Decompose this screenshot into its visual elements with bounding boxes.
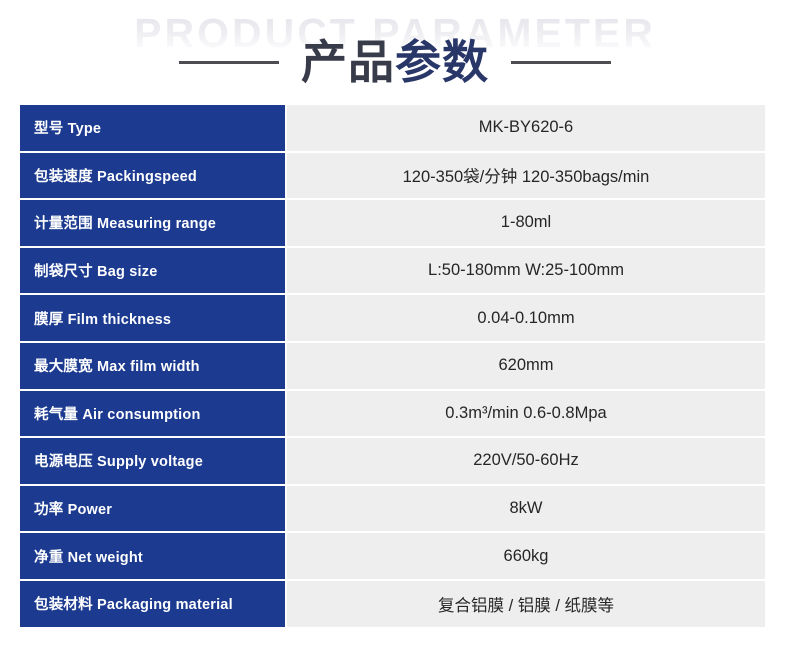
spec-value: 620mm [287, 343, 765, 389]
title-text: 产品参数 [301, 34, 489, 90]
spec-value: 复合铝膜 / 铝膜 / 纸膜等 [287, 581, 765, 627]
spec-value: 8kW [287, 486, 765, 532]
spec-table: 型号 TypeMK-BY620-6包装速度 Packingspeed120-35… [20, 105, 765, 627]
table-row: 包装材料 Packaging material复合铝膜 / 铝膜 / 纸膜等 [20, 581, 765, 627]
title-rule-right [511, 61, 611, 64]
spec-label: 计量范围 Measuring range [20, 200, 285, 246]
spec-value: MK-BY620-6 [287, 105, 765, 151]
spec-label: 制袋尺寸 Bag size [20, 248, 285, 294]
table-row: 净重 Net weight660kg [20, 533, 765, 579]
table-row: 包装速度 Packingspeed120-350袋/分钟 120-350bags… [20, 153, 765, 199]
spec-value: 1-80ml [287, 200, 765, 246]
title-segment-parameter: 参数 [395, 36, 489, 88]
spec-label: 电源电压 Supply voltage [20, 438, 285, 484]
table-row: 电源电压 Supply voltage220V/50-60Hz [20, 438, 765, 484]
spec-label: 型号 Type [20, 105, 285, 151]
table-row: 耗气量 Air consumption0.3m³/min 0.6-0.8Mpa [20, 391, 765, 437]
spec-value: L:50-180mm W:25-100mm [287, 248, 765, 294]
spec-label: 包装速度 Packingspeed [20, 153, 285, 199]
table-row: 膜厚 Film thickness0.04-0.10mm [20, 295, 765, 341]
spec-label: 耗气量 Air consumption [20, 391, 285, 437]
table-row: 制袋尺寸 Bag sizeL:50-180mm W:25-100mm [20, 248, 765, 294]
spec-label: 净重 Net weight [20, 533, 285, 579]
table-row: 型号 TypeMK-BY620-6 [20, 105, 765, 151]
table-row: 计量范围 Measuring range1-80ml [20, 200, 765, 246]
page-title: 产品参数 [0, 30, 790, 94]
spec-value: 660kg [287, 533, 765, 579]
spec-label: 包装材料 Packaging material [20, 581, 285, 627]
spec-value: 220V/50-60Hz [287, 438, 765, 484]
title-rule-left [179, 61, 279, 64]
spec-value: 120-350袋/分钟 120-350bags/min [287, 153, 765, 199]
spec-label: 功率 Power [20, 486, 285, 532]
spec-label: 最大膜宽 Max film width [20, 343, 285, 389]
spec-value: 0.3m³/min 0.6-0.8Mpa [287, 391, 765, 437]
table-row: 功率 Power8kW [20, 486, 765, 532]
spec-value: 0.04-0.10mm [287, 295, 765, 341]
page-header: PRODUCT PARAMETER 产品参数 [0, 0, 790, 100]
table-row: 最大膜宽 Max film width620mm [20, 343, 765, 389]
spec-label: 膜厚 Film thickness [20, 295, 285, 341]
product-parameter-page: PRODUCT PARAMETER 产品参数 型号 TypeMK-BY620-6… [0, 0, 790, 647]
title-segment-product: 产品 [301, 36, 395, 88]
